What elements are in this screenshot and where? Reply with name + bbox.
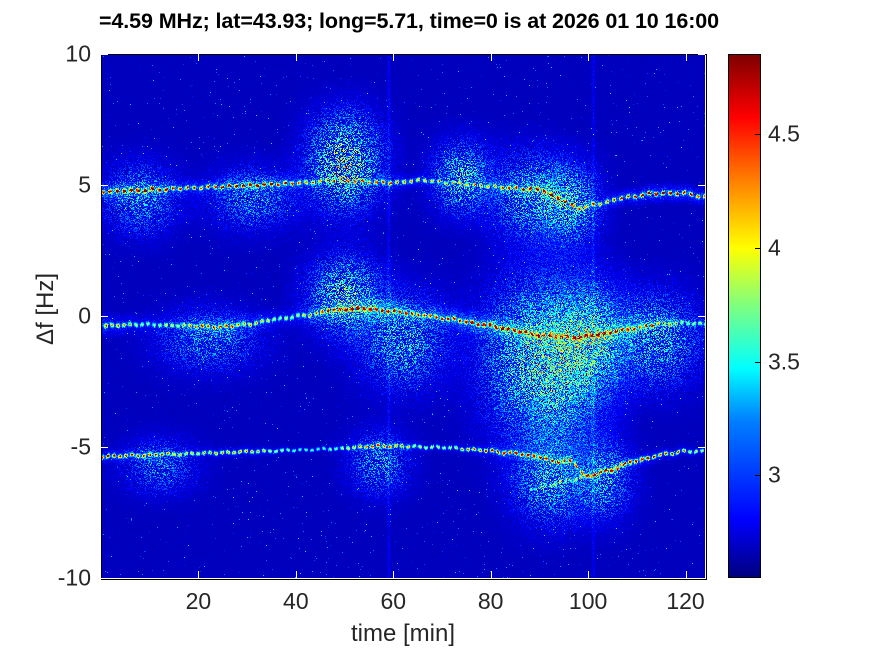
colorbar-tick-mark (755, 362, 761, 363)
spectrogram-axes[interactable] (101, 54, 705, 578)
spectrogram-image (101, 54, 705, 578)
x-tick-label: 120 (666, 588, 704, 615)
colorbar-tick-mark (755, 248, 761, 249)
colorbar-tick-label: 4.5 (768, 120, 800, 147)
colorbar[interactable] (728, 54, 761, 578)
x-tick-label: 60 (380, 588, 406, 615)
plot-title: =4.59 MHz; lat=43.93; long=5.71, time=0 … (0, 9, 824, 34)
colorbar-tick-label: 3.5 (768, 348, 800, 375)
x-tick-label: 20 (186, 588, 212, 615)
y-tick-label: 10 (3, 41, 91, 68)
x-tick-label: 40 (283, 588, 309, 615)
y-tick-mark-right (698, 578, 705, 579)
y-tick-label: -10 (3, 565, 91, 592)
colorbar-tick-label: 3 (768, 462, 781, 489)
figure-canvas: =4.59 MHz; lat=43.93; long=5.71, time=0 … (0, 0, 875, 656)
y-axis-title: Δf [Hz] (32, 189, 60, 429)
x-axis-title: time [min] (101, 620, 705, 648)
y-tick-label: -5 (3, 434, 91, 461)
colorbar-tick-mark (755, 134, 761, 135)
x-tick-label: 80 (478, 588, 504, 615)
y-tick-mark (101, 578, 108, 579)
x-tick-label: 100 (569, 588, 607, 615)
colorbar-tick-label: 4 (768, 234, 781, 261)
colorbar-tick-mark (755, 475, 761, 476)
